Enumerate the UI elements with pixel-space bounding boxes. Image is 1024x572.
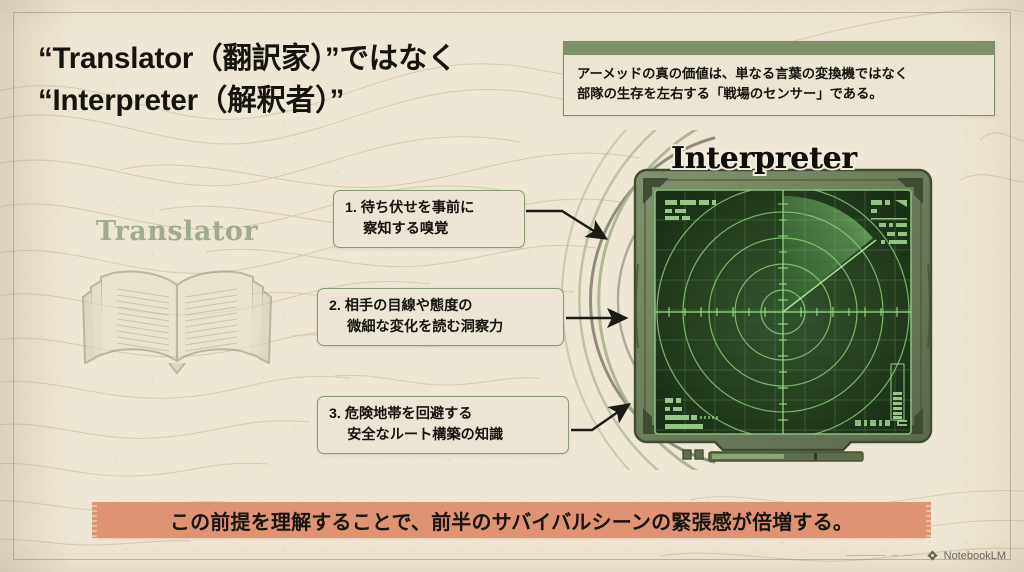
quote-card: アーメッドの真の価値は、単なる言葉の変換機ではなく 部隊の生存を左右する「戦場の… (563, 41, 995, 116)
notebooklm-watermark: NotebookLM (926, 549, 1006, 562)
page-title: “Translator（翻訳家）”ではなく “Interpreter（解釈者）” (38, 38, 558, 122)
device-bottom-tabs (683, 450, 703, 459)
interpreter-title: Interpreter (671, 141, 857, 176)
device-slider (709, 452, 863, 461)
quote-line2: 部隊の生存を左右する「戦場のセンサー」である。 (577, 84, 981, 104)
slide-canvas: “Translator（翻訳家）”ではなく “Interpreter（解釈者）”… (0, 0, 1024, 572)
quote-card-body: アーメッドの真の価値は、単なる言葉の変換機ではなく 部隊の生存を左右する「戦場の… (564, 55, 994, 115)
page-title-line2: “Interpreter（解釈者）” (38, 80, 558, 122)
callout-item-3[interactable]: 3. 危険地帯を回避する 安全なルート構築の知識 (317, 396, 569, 454)
notebooklm-spark-icon (926, 549, 939, 562)
open-book-icon (73, 251, 281, 379)
quote-card-header-bar (564, 42, 994, 55)
quote-line1: アーメッドの真の価値は、単なる言葉の変換機ではなく (577, 64, 981, 84)
radar-screen-icon (633, 168, 933, 479)
translator-group: Translator (73, 216, 281, 379)
watermark-dashes (846, 555, 912, 557)
summary-banner: この前提を理解することで、前半のサバイバルシーンの緊張感が倍増する。 (97, 502, 926, 538)
notebooklm-label: NotebookLM (944, 550, 1006, 562)
page-title-line1: “Translator（翻訳家）”ではなく (38, 42, 457, 75)
callout-item-2[interactable]: 2. 相手の目線や態度の 微細な変化を読む洞察力 (317, 288, 564, 346)
callout-item-1[interactable]: 1. 待ち伏せを事前に 察知する嗅覚 (333, 190, 525, 248)
translator-label: Translator (73, 216, 281, 247)
summary-banner-text: この前提を理解することで、前半のサバイバルシーンの緊張感が倍増する。 (170, 506, 853, 535)
